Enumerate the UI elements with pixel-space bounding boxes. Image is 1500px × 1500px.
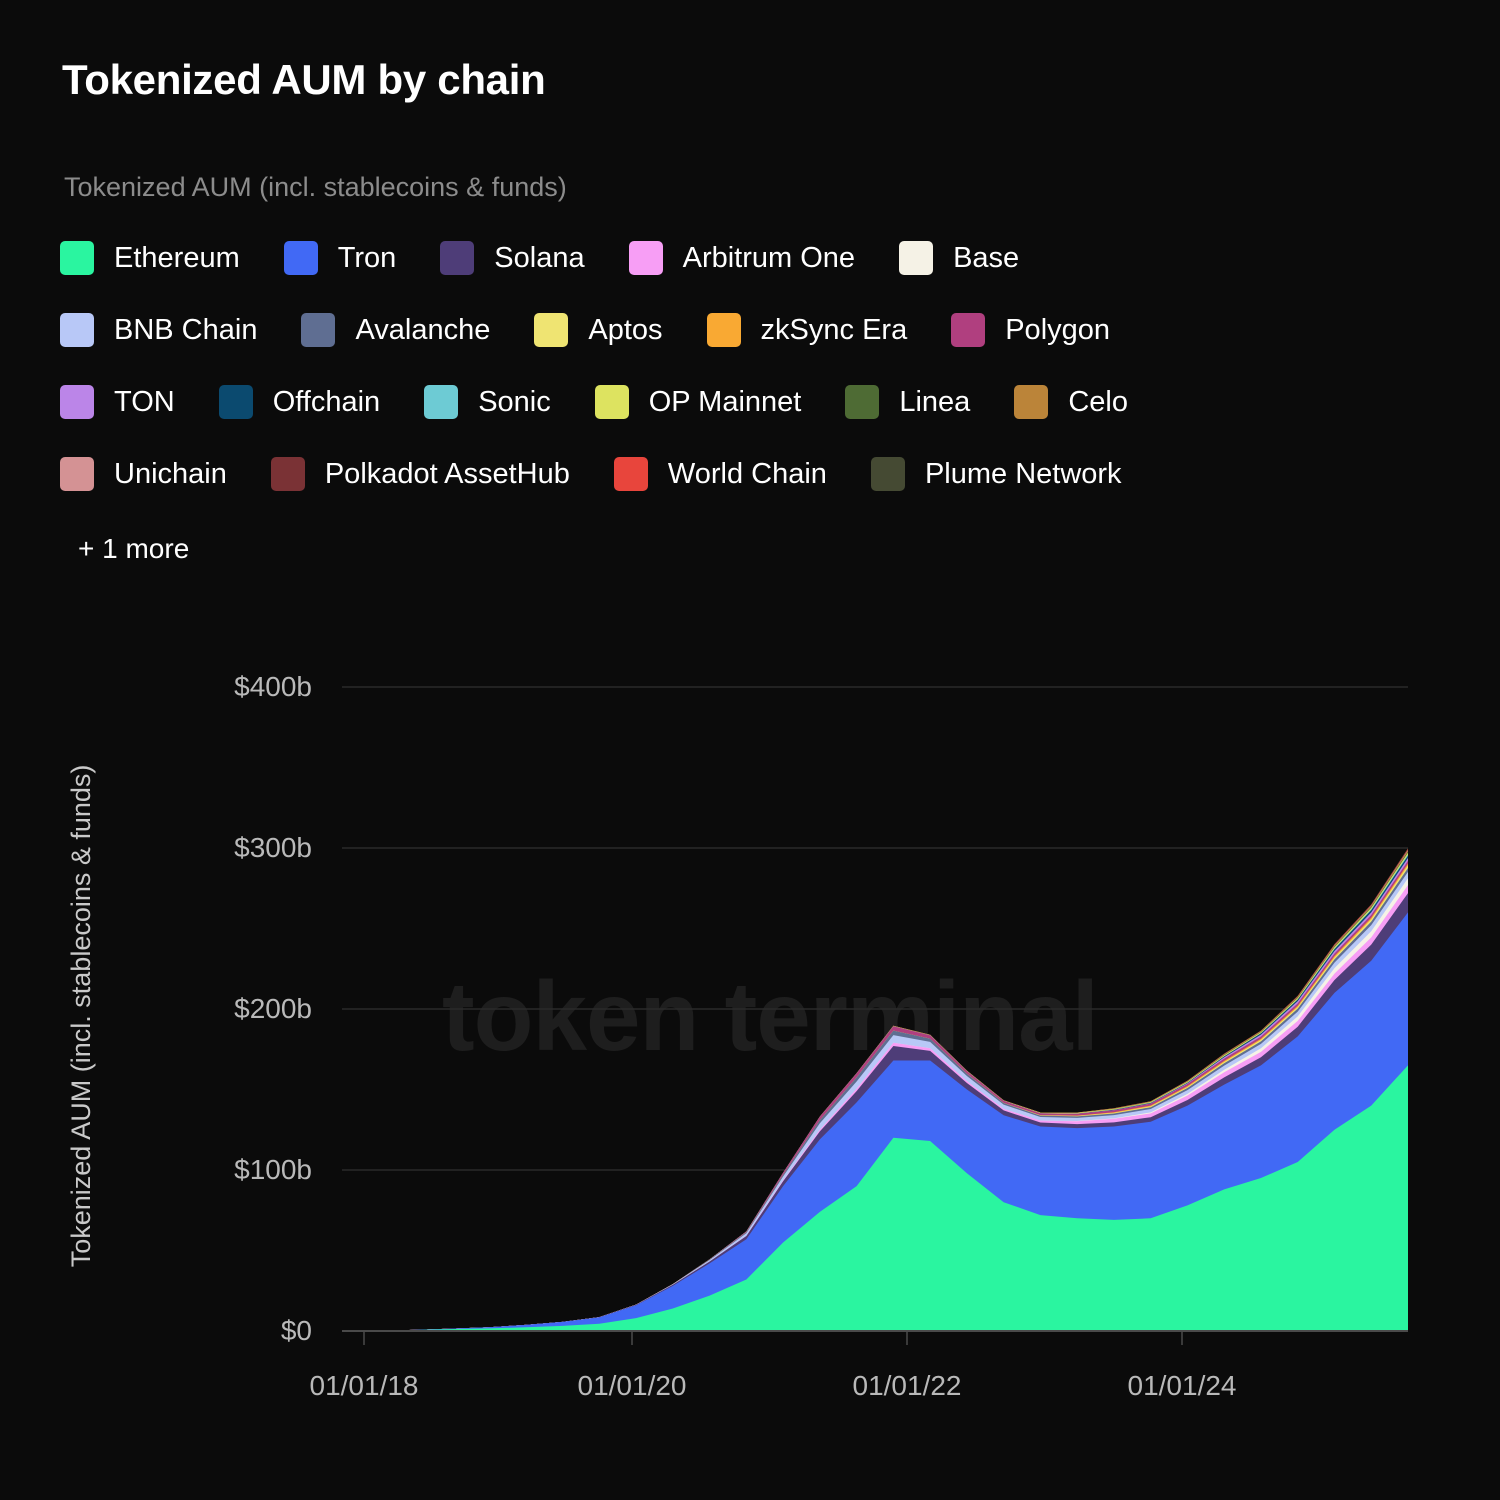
legend-swatch-icon	[271, 457, 305, 491]
legend-swatch-icon	[951, 313, 985, 347]
legend-swatch-icon	[845, 385, 879, 419]
legend-swatch-icon	[284, 241, 318, 275]
x-axis-tick-label: 01/01/20	[578, 1370, 687, 1402]
legend-swatch-icon	[60, 385, 94, 419]
legend-item-label: Avalanche	[355, 314, 490, 347]
y-axis-tick-label: $100b	[112, 1154, 312, 1186]
legend-item-zksync-era[interactable]: zkSync Era	[707, 313, 908, 347]
legend-item-world-chain[interactable]: World Chain	[614, 457, 827, 491]
legend-swatch-icon	[60, 457, 94, 491]
legend-item-solana[interactable]: Solana	[440, 241, 584, 275]
legend-row: BNB ChainAvalancheAptoszkSync EraPolygon	[60, 306, 1450, 354]
chart-subtitle: Tokenized AUM (incl. stablecoins & funds…	[64, 172, 567, 203]
legend-swatch-icon	[301, 313, 335, 347]
legend-item-polkadot-assethub[interactable]: Polkadot AssetHub	[271, 457, 570, 491]
legend-item-label: Polkadot AssetHub	[325, 458, 570, 491]
legend-swatch-icon	[440, 241, 474, 275]
legend-item-label: zkSync Era	[761, 314, 908, 347]
legend-item-polygon[interactable]: Polygon	[951, 313, 1110, 347]
legend-item-label: Base	[953, 242, 1019, 275]
legend-item-label: TON	[114, 386, 175, 419]
legend-swatch-icon	[219, 385, 253, 419]
legend-swatch-icon	[629, 241, 663, 275]
legend-swatch-icon	[707, 313, 741, 347]
legend-item-arbitrum-one[interactable]: Arbitrum One	[629, 241, 855, 275]
legend-item-bnb-chain[interactable]: BNB Chain	[60, 313, 257, 347]
legend-item-aptos[interactable]: Aptos	[534, 313, 662, 347]
x-axis-tick-label: 01/01/18	[310, 1370, 419, 1402]
legend-item-label: Linea	[899, 386, 970, 419]
legend-row: TONOffchainSonicOP MainnetLineaCelo	[60, 378, 1450, 426]
legend-item-plume-network[interactable]: Plume Network	[871, 457, 1122, 491]
legend-item-label: Aptos	[588, 314, 662, 347]
legend-swatch-icon	[899, 241, 933, 275]
y-axis-tick-label: $300b	[112, 832, 312, 864]
y-axis-tick-label: $200b	[112, 993, 312, 1025]
x-axis-tick-label: 01/01/24	[1128, 1370, 1237, 1402]
legend-item-label: World Chain	[668, 458, 827, 491]
legend-swatch-icon	[1014, 385, 1048, 419]
legend-item-label: Offchain	[273, 386, 380, 419]
legend-item-label: Tron	[338, 242, 397, 275]
legend-swatch-icon	[871, 457, 905, 491]
page-title: Tokenized AUM by chain	[62, 56, 545, 104]
x-axis-tick-label: 01/01/22	[853, 1370, 962, 1402]
legend-swatch-icon	[424, 385, 458, 419]
legend-item-label: Arbitrum One	[683, 242, 855, 275]
legend-swatch-icon	[60, 313, 94, 347]
legend-item-label: Polygon	[1005, 314, 1110, 347]
legend-item-label: Plume Network	[925, 458, 1122, 491]
legend-swatch-icon	[595, 385, 629, 419]
legend-item-celo[interactable]: Celo	[1014, 385, 1128, 419]
legend-item-label: Solana	[494, 242, 584, 275]
legend-item-label: BNB Chain	[114, 314, 257, 347]
legend-item-tron[interactable]: Tron	[284, 241, 397, 275]
y-axis-tick-label: $400b	[112, 671, 312, 703]
y-axis-tick-label: $0	[112, 1315, 312, 1347]
legend-item-offchain[interactable]: Offchain	[219, 385, 380, 419]
legend-item-ton[interactable]: TON	[60, 385, 175, 419]
legend-swatch-icon	[60, 241, 94, 275]
chart-legend: EthereumTronSolanaArbitrum OneBaseBNB Ch…	[60, 234, 1450, 522]
legend-item-label: Ethereum	[114, 242, 240, 275]
legend-swatch-icon	[614, 457, 648, 491]
legend-item-ethereum[interactable]: Ethereum	[60, 241, 240, 275]
legend-item-label: Celo	[1068, 386, 1128, 419]
legend-item-unichain[interactable]: Unichain	[60, 457, 227, 491]
legend-item-linea[interactable]: Linea	[845, 385, 970, 419]
legend-swatch-icon	[534, 313, 568, 347]
legend-item-sonic[interactable]: Sonic	[424, 385, 551, 419]
legend-item-label: Unichain	[114, 458, 227, 491]
legend-row: UnichainPolkadot AssetHubWorld ChainPlum…	[60, 450, 1450, 498]
plot-area: Tokenized AUM (incl. stablecoins & funds…	[0, 600, 1500, 1430]
chart-card: Tokenized AUM by chain Tokenized AUM (in…	[0, 0, 1500, 1500]
legend-item-avalanche[interactable]: Avalanche	[301, 313, 490, 347]
legend-row: EthereumTronSolanaArbitrum OneBase	[60, 234, 1450, 282]
legend-item-op-mainnet[interactable]: OP Mainnet	[595, 385, 802, 419]
legend-item-base[interactable]: Base	[899, 241, 1019, 275]
legend-item-label: Sonic	[478, 386, 551, 419]
legend-item-label: OP Mainnet	[649, 386, 802, 419]
legend-more-button[interactable]: + 1 more	[78, 533, 189, 565]
